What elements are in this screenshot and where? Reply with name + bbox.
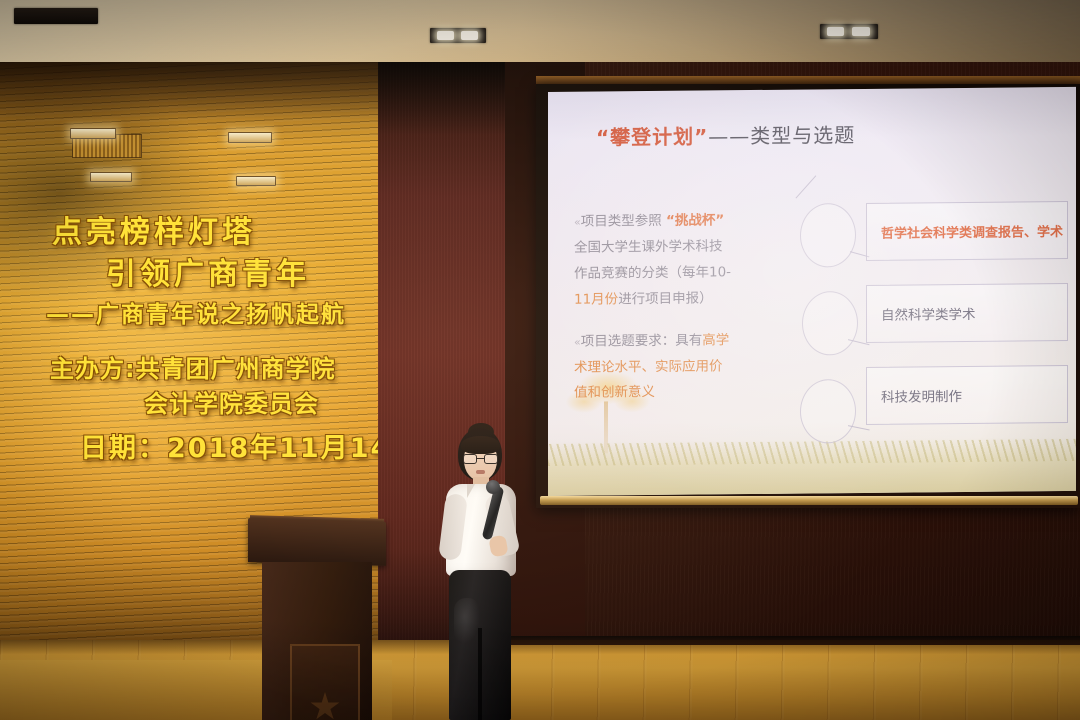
ceiling-light-fixture [820, 24, 878, 39]
slide-content: “攀登计划”——类型与选题 «项目类型参照 “挑战杯” 全国大学生课外学术科技 … [548, 87, 1076, 496]
p1-highlight: “挑战杯” [666, 212, 724, 229]
podium-front-panel [290, 644, 360, 720]
mouth [476, 470, 485, 474]
p1-line4-highlight: 11月份 [574, 291, 618, 307]
podium [248, 520, 386, 720]
light-bulb [827, 27, 844, 35]
hair-fringe [461, 436, 500, 454]
slide-title-rest: ——类型与选题 [708, 123, 855, 148]
slide-body-text: «项目类型参照 “挑战杯” 全国大学生课外学术科技 作品竞赛的分类（每年10- … [574, 208, 786, 407]
p1-lead: 项目类型参照 [581, 213, 662, 230]
wall-spot-light [70, 128, 116, 139]
auditorium-photo: 点亮榜样灯塔 引领广商青年 ——广商青年说之扬帆起航 主办方:共青团广州商学院 … [0, 0, 1080, 720]
fabric-highlight [454, 598, 480, 644]
poster-line-6: 日期：2018年11月14日 [24, 432, 384, 467]
slide-connector-line [795, 175, 816, 198]
slide-category-box: 自然科学类学术 [866, 283, 1068, 343]
slide-node-oval [800, 379, 856, 444]
glasses-bridge [477, 458, 484, 459]
light-bulb [461, 31, 478, 39]
light-bulb [437, 31, 454, 39]
p2-highlight-c: 值和创新意义 [574, 384, 655, 401]
podium-top [248, 518, 386, 566]
slide-node-oval [802, 291, 858, 356]
floor-shadow [0, 640, 1080, 720]
slide-category-label: 自然科学类学术 [881, 303, 976, 324]
slide-paragraph-1: «项目类型参照 “挑战杯” 全国大学生课外学术科技 作品竞赛的分类（每年10- … [574, 208, 786, 314]
slide-category-label: 科技发明制作 [881, 385, 962, 406]
glasses-lens-left [463, 454, 477, 464]
podium-body [262, 562, 372, 720]
slide-category-box: 科技发明制作 [866, 365, 1068, 425]
projection-screen: “攀登计划”——类型与选题 «项目类型参照 “挑战杯” 全国大学生课外学术科技 … [548, 87, 1076, 496]
wall-spot-light [228, 132, 272, 143]
bullet-icon: « [574, 335, 581, 348]
slide-paragraph-2: «项目选题要求：具有高学 术理论水平、实际应用价 值和创新意义 [574, 327, 786, 407]
poster-line-5: 会计学院委员会 [24, 389, 384, 420]
screen-bottom-trim [540, 496, 1078, 505]
slide-title: “攀登计划”——类型与选题 [596, 119, 855, 150]
glasses-icon [463, 454, 498, 464]
wall-spot-light [90, 172, 132, 182]
speaker [432, 428, 528, 720]
poster-line-1: 点亮榜样灯塔 [24, 214, 384, 252]
slide-category-box: 哲学社会科学类调查报告、学术 [866, 201, 1068, 261]
slide-node-column [798, 197, 860, 458]
p2-highlight-b: 术理论水平、实际应用价 [574, 358, 723, 375]
p1-line2: 全国大学生课外学术科技 [574, 238, 723, 255]
p1-line4-rest: 进行项目申报） [618, 290, 713, 307]
light-bulb [852, 27, 869, 35]
p1-line3: 作品竞赛的分类（每年10- [574, 264, 731, 282]
ceiling-shading [0, 0, 1080, 66]
p2-highlight-a: 高学 [702, 332, 729, 348]
ceiling-light-fixture [14, 8, 98, 24]
slide-node-oval [800, 203, 856, 268]
star-emblem-icon [310, 692, 340, 720]
trouser-leg-split [478, 628, 482, 720]
bullet-icon: « [574, 216, 581, 229]
poster-line-2: 引领广商青年 [24, 256, 384, 294]
slide-category-label: 哲学社会科学类调查报告、学术 [881, 221, 1063, 242]
slide-title-quoted: “攀登计划” [596, 124, 708, 149]
ceiling-light-fixture [430, 28, 486, 43]
wall-spot-light [236, 176, 276, 186]
glasses-lens-right [484, 454, 498, 464]
projected-poster-text: 点亮榜样灯塔 引领广商青年 ——广商青年说之扬帆起航 主办方:共青团广州商学院 … [24, 214, 384, 466]
p2-lead: 项目选题要求：具有 [581, 332, 703, 349]
poster-line-3: ——广商青年说之扬帆起航 [24, 301, 384, 330]
collar-left [467, 484, 481, 498]
wall-top-shadow [0, 62, 392, 120]
poster-line-4: 主办方:共青团广州商学院 [24, 354, 384, 385]
